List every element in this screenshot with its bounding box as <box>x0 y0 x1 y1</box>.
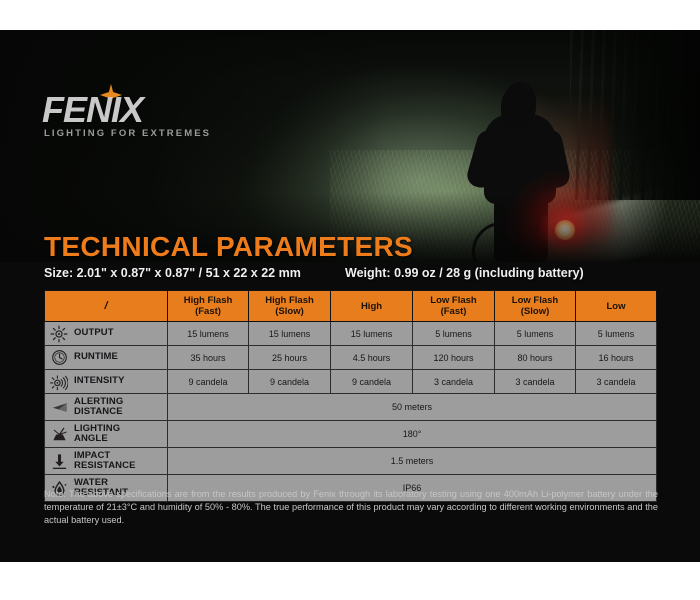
header-line-2: (Fast) <box>441 306 467 317</box>
cell-intensity-low-flash-fast: 3 candela <box>413 370 495 394</box>
technical-parameters-table: / High Flash (Fast) High Flash (Slow) Hi… <box>44 290 657 502</box>
row-label-line-2: RESISTANCE <box>74 460 136 471</box>
clock-icon <box>49 348 69 368</box>
table-row: IMPACT RESISTANCE 1.5 meters <box>45 448 657 475</box>
row-label-alerting-distance: ALERTING DISTANCE <box>45 394 168 421</box>
header-cell-slash: / <box>45 291 168 322</box>
fenix-logo: FENIX LIGHTING FOR EXTREMES <box>42 70 222 134</box>
header-line-2: (Slow) <box>521 306 550 317</box>
row-label-line-1: LIGHTING <box>74 423 120 434</box>
fenix-tagline: LIGHTING FOR EXTREMES <box>44 128 211 139</box>
header-cell-high-flash-slow: High Flash (Slow) <box>249 291 331 322</box>
cell-lighting-angle-value: 180° <box>168 421 657 448</box>
table-row: RUNTIME 35 hours 25 hours 4.5 hours 120 … <box>45 346 657 370</box>
row-label-line-2: DISTANCE <box>74 406 123 417</box>
row-label-text: INTENSITY <box>74 376 125 387</box>
table-row: OUTPUT 15 lumens 15 lumens 15 lumens 5 l… <box>45 322 657 346</box>
cell-intensity-high-flash-slow: 9 candela <box>249 370 331 394</box>
sun-burst-icon <box>49 324 69 344</box>
header-line-1: Low Flash <box>430 295 476 306</box>
table-row: ALERTING DISTANCE 50 meters <box>45 394 657 421</box>
fenix-wordmark: FENIX <box>42 92 143 128</box>
row-label-line-1: ALERTING <box>74 396 123 407</box>
sun-rays-icon <box>49 372 69 392</box>
cell-intensity-low: 3 candela <box>576 370 657 394</box>
row-label-output: OUTPUT <box>45 322 168 346</box>
table-row: LIGHTING ANGLE 180° <box>45 421 657 448</box>
size-text: Size: 2.01" x 0.87" x 0.87" / 51 x 22 x … <box>44 266 301 280</box>
row-label-text: LIGHTING ANGLE <box>74 424 120 445</box>
header-cell-high-flash-fast: High Flash (Fast) <box>168 291 249 322</box>
cell-output-low-flash-fast: 5 lumens <box>413 322 495 346</box>
cell-output-low-flash-slow: 5 lumens <box>495 322 576 346</box>
header-cell-low: Low <box>576 291 657 322</box>
cell-runtime-low: 16 hours <box>576 346 657 370</box>
header-cell-low-flash-fast: Low Flash (Fast) <box>413 291 495 322</box>
header-line-1: Low Flash <box>512 295 558 306</box>
table-row: INTENSITY 9 candela 9 candela 9 candela … <box>45 370 657 394</box>
photo-vignette <box>0 30 700 262</box>
cell-intensity-high-flash-fast: 9 candela <box>168 370 249 394</box>
header-cell-high: High <box>331 291 413 322</box>
cell-output-high-flash-slow: 15 lumens <box>249 322 331 346</box>
header-line-1: High Flash <box>265 295 314 306</box>
row-label-runtime: RUNTIME <box>45 346 168 370</box>
hero-night-photo <box>0 30 700 262</box>
footnote-text: Note: The above specifications are from … <box>44 488 658 527</box>
row-label-text: ALERTING DISTANCE <box>74 397 123 418</box>
size-weight-line: Size: 2.01" x 0.87" x 0.87" / 51 x 22 x … <box>44 266 664 284</box>
cell-intensity-low-flash-slow: 3 candela <box>495 370 576 394</box>
cell-alerting-distance-value: 50 meters <box>168 394 657 421</box>
cell-runtime-low-flash-fast: 120 hours <box>413 346 495 370</box>
header-line-1: High Flash <box>184 295 233 306</box>
table-header-row: / High Flash (Fast) High Flash (Slow) Hi… <box>45 291 657 322</box>
cell-impact-resistance-value: 1.5 meters <box>168 448 657 475</box>
cell-runtime-high-flash-slow: 25 hours <box>249 346 331 370</box>
cell-output-low: 5 lumens <box>576 322 657 346</box>
row-label-text: RUNTIME <box>74 352 118 363</box>
header-line-2: (Fast) <box>195 306 221 317</box>
impact-arrow-icon <box>49 451 69 471</box>
row-label-intensity: INTENSITY <box>45 370 168 394</box>
cell-runtime-low-flash-slow: 80 hours <box>495 346 576 370</box>
product-spec-panel: FENIX LIGHTING FOR EXTREMES TECHNICAL PA… <box>0 30 700 562</box>
cell-intensity-high: 9 candela <box>331 370 413 394</box>
header-cell-low-flash-slow: Low Flash (Slow) <box>495 291 576 322</box>
row-label-text: IMPACT RESISTANCE <box>74 451 136 472</box>
cell-output-high: 15 lumens <box>331 322 413 346</box>
page-title: TECHNICAL PARAMETERS <box>44 231 413 263</box>
header-line-2: (Slow) <box>275 306 304 317</box>
row-label-line-1: IMPACT <box>74 450 110 461</box>
row-label-impact-resistance: IMPACT RESISTANCE <box>45 448 168 475</box>
row-label-line-1: WATER <box>74 477 108 488</box>
weight-text: Weight: 0.99 oz / 28 g (including batter… <box>345 266 584 280</box>
row-label-text: OUTPUT <box>74 328 114 339</box>
row-label-line-2: ANGLE <box>74 433 108 444</box>
cell-output-high-flash-fast: 15 lumens <box>168 322 249 346</box>
cell-runtime-high-flash-fast: 35 hours <box>168 346 249 370</box>
lighting-angle-icon <box>49 424 69 444</box>
row-label-lighting-angle: LIGHTING ANGLE <box>45 421 168 448</box>
cell-runtime-high: 4.5 hours <box>331 346 413 370</box>
beam-cone-icon <box>49 397 69 417</box>
page-root: FENIX LIGHTING FOR EXTREMES TECHNICAL PA… <box>0 0 700 600</box>
